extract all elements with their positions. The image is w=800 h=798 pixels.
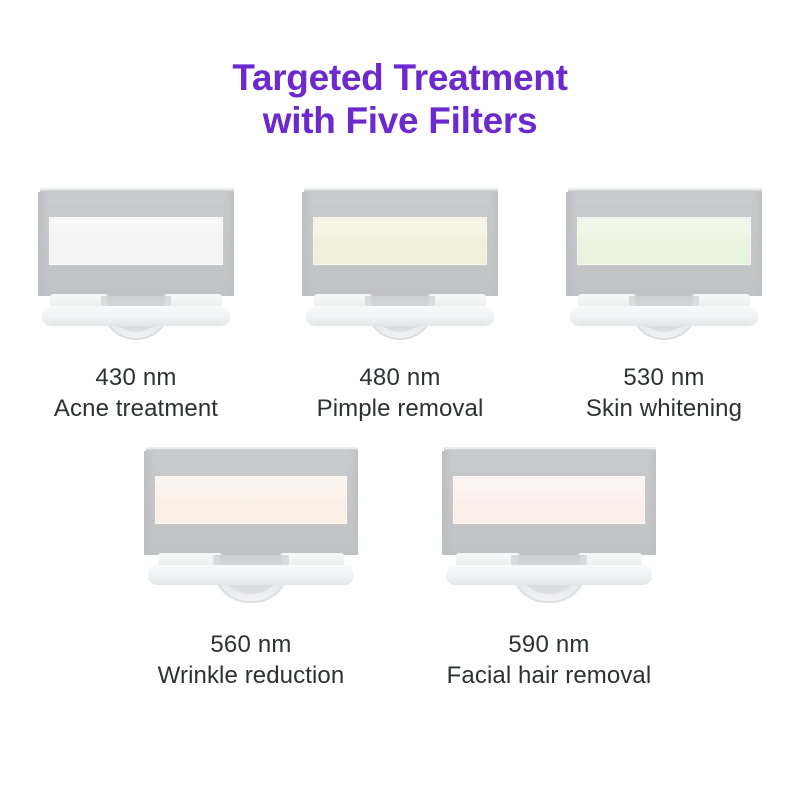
base-bar [148, 565, 354, 585]
window-glow [578, 218, 750, 264]
title-line-1: Targeted Treatment [0, 56, 800, 99]
filter-caption: 480 nm Pimple removal [317, 362, 484, 425]
filter-caption: 590 nm Facial hair removal [447, 629, 652, 692]
filter-purpose: Skin whitening [586, 393, 742, 425]
filter-device-icon [302, 188, 498, 340]
filter-window [577, 217, 751, 265]
infographic-page: Targeted Treatment with Five Filters [0, 0, 800, 798]
filter-card-590[interactable]: 590 nm Facial hair removal [424, 447, 674, 692]
filter-card-480[interactable]: 480 nm Pimple removal [286, 188, 514, 425]
filter-wavelength: 530 nm [586, 362, 742, 393]
title-line-2: with Five Filters [0, 99, 800, 142]
filter-wavelength: 560 nm [158, 629, 345, 660]
filter-device-icon [566, 188, 762, 340]
filter-purpose: Wrinkle reduction [158, 660, 345, 692]
filter-caption: 530 nm Skin whitening [586, 362, 742, 425]
filter-window [155, 476, 347, 524]
window-glow [314, 218, 486, 264]
window-glow [454, 477, 644, 523]
filter-card-430[interactable]: 430 nm Acne treatment [22, 188, 250, 425]
filter-card-560[interactable]: 560 nm Wrinkle reduction [126, 447, 376, 692]
filter-purpose: Acne treatment [54, 393, 218, 425]
filter-device-icon [442, 447, 656, 605]
base-bar [570, 306, 758, 326]
filter-wavelength: 590 nm [447, 629, 652, 660]
filter-device-icon [144, 447, 358, 605]
base-bar [306, 306, 494, 326]
page-title: Targeted Treatment with Five Filters [0, 0, 800, 142]
filter-purpose: Pimple removal [317, 393, 484, 425]
filter-wavelength: 430 nm [54, 362, 218, 393]
filter-window [453, 476, 645, 524]
window-glow [50, 218, 222, 264]
filter-device-icon [38, 188, 234, 340]
filter-wavelength: 480 nm [317, 362, 484, 393]
filter-caption: 560 nm Wrinkle reduction [158, 629, 345, 692]
filter-row-2: 560 nm Wrinkle reduction [0, 447, 800, 692]
filter-grid: 430 nm Acne treatment [0, 188, 800, 692]
base-bar [42, 306, 230, 326]
window-glow [156, 477, 346, 523]
filter-caption: 430 nm Acne treatment [54, 362, 218, 425]
filter-row-1: 430 nm Acne treatment [0, 188, 800, 425]
filter-window [49, 217, 223, 265]
base-bar [446, 565, 652, 585]
filter-card-530[interactable]: 530 nm Skin whitening [550, 188, 778, 425]
filter-window [313, 217, 487, 265]
filter-purpose: Facial hair removal [447, 660, 652, 692]
